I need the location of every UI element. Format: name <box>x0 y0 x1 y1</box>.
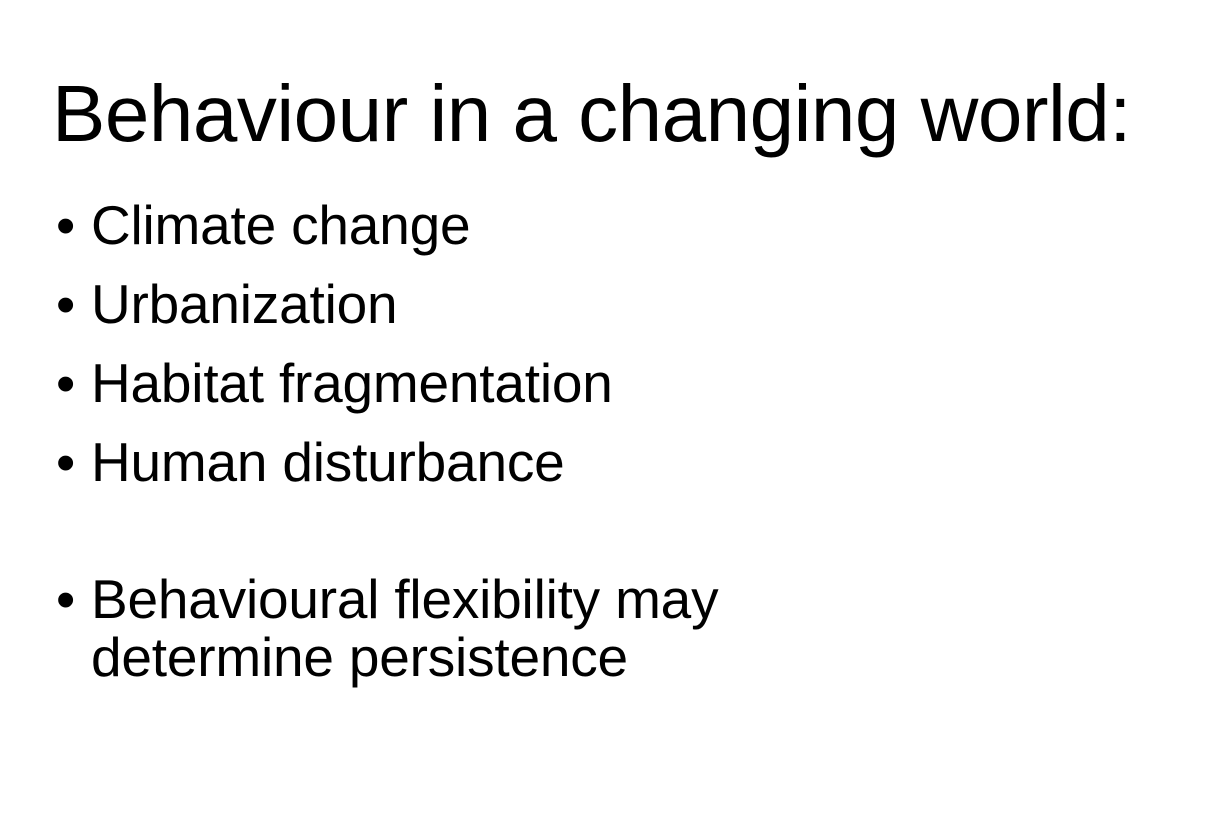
list-item: • Human disturbance <box>52 433 1012 491</box>
list-item: • Climate change <box>52 196 1012 254</box>
bullet-list: • Climate change • Urbanization • Habita… <box>52 196 1012 686</box>
bullet-point-icon: • <box>56 570 78 628</box>
list-item-label: Climate change <box>91 196 1012 254</box>
list-item-label: Behavioural flexibility may determine pe… <box>91 570 959 686</box>
list-item-label: Human disturbance <box>91 433 1012 491</box>
list-item: • Urbanization <box>52 275 1012 333</box>
list-item: • Behavioural flexibility may determine … <box>52 570 1012 686</box>
list-item: • Habitat fragmentation <box>52 354 1012 412</box>
blank-line-spacer <box>52 512 1012 570</box>
bullet-point-icon: • <box>56 354 78 412</box>
bullet-point-icon: • <box>56 275 78 333</box>
page-title: Behaviour in a changing world: <box>52 72 1192 156</box>
presentation-slide: Behaviour in a changing world: • Climate… <box>0 0 1232 814</box>
list-item-label: Urbanization <box>91 275 1012 333</box>
list-item-label: Habitat fragmentation <box>91 354 1012 412</box>
bullet-point-icon: • <box>56 433 78 491</box>
bullet-point-icon: • <box>56 196 78 254</box>
